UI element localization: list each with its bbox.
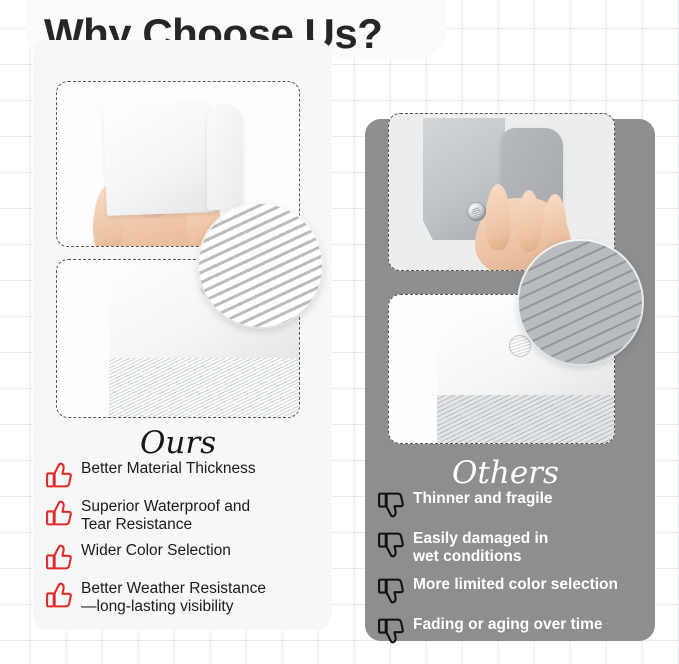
thumbs-down-icon xyxy=(376,491,406,519)
ours-heading: Ours xyxy=(140,425,216,461)
ours-benefit-list: Better Material Thickness Superior Water… xyxy=(44,460,334,624)
thumbs-down-icon xyxy=(376,531,406,559)
list-item: Thinner and fragile xyxy=(376,490,648,519)
thumbs-up-icon xyxy=(44,581,74,609)
metal-grommet-icon xyxy=(467,202,486,221)
punched-hole-icon xyxy=(509,335,531,357)
thumbs-down-icon xyxy=(376,577,406,605)
list-item: Wider Color Selection xyxy=(44,542,334,571)
thumbs-up-icon xyxy=(44,543,74,571)
list-item: More limited color selection xyxy=(376,576,648,605)
list-item-label: Better Material Thickness xyxy=(81,460,256,478)
thin-edge-zoom-circle xyxy=(519,241,642,364)
list-item-label: More limited color selection xyxy=(413,576,618,594)
list-item: Better Material Thickness xyxy=(44,460,334,489)
thick-tag-bent-back xyxy=(207,104,243,210)
thumbs-up-icon xyxy=(44,461,74,489)
list-item-label: Superior Waterproof and Tear Resistance xyxy=(81,498,250,533)
list-item-label: Easily damaged in wet conditions xyxy=(413,530,548,565)
thick-tag-front xyxy=(103,102,215,216)
thumbs-down-icon xyxy=(376,617,406,645)
list-item: Better Weather Resistance —long-lasting … xyxy=(44,580,334,615)
list-item-label: Thinner and fragile xyxy=(413,490,553,508)
thumbs-up-icon xyxy=(44,499,74,527)
others-heading: Others xyxy=(452,455,559,491)
list-item: Superior Waterproof and Tear Resistance xyxy=(44,498,334,533)
list-item: Fading or aging over time xyxy=(376,616,648,645)
list-item-label: Fading or aging over time xyxy=(413,616,602,634)
others-drawback-list: Thinner and fragile Easily damaged in we… xyxy=(376,490,648,656)
list-item-label: Better Weather Resistance —long-lasting … xyxy=(81,580,266,615)
list-item: Easily damaged in wet conditions xyxy=(376,530,648,565)
thick-edge-zoom-circle xyxy=(199,204,322,327)
list-item-label: Wider Color Selection xyxy=(81,542,231,560)
